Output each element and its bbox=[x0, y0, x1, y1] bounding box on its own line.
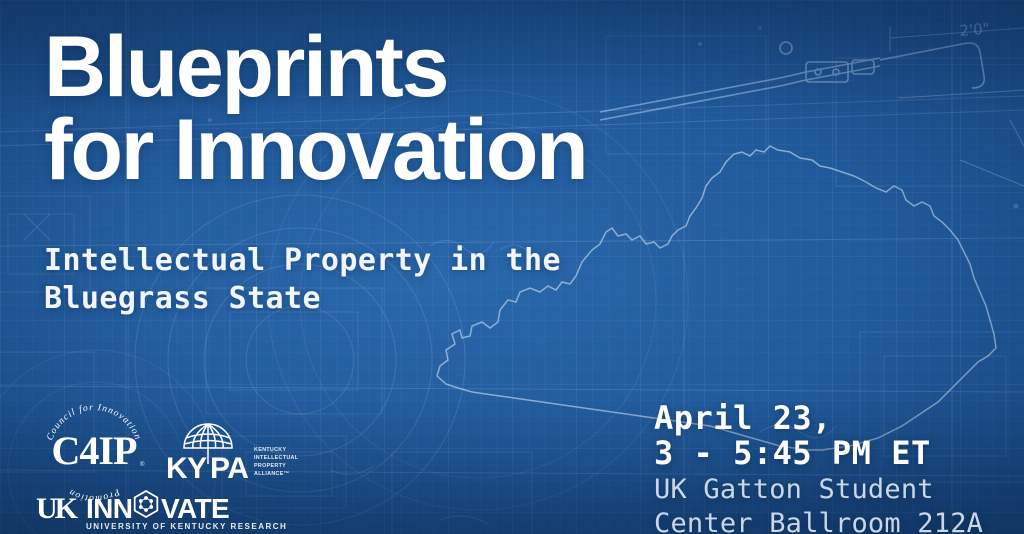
subtitle-line-2: Bluegrass State bbox=[44, 280, 724, 318]
event-details: April 23, 3 - 5:45 PM ET UK Gatton Stude… bbox=[654, 401, 1010, 534]
kyipa-wordmark-right: PA bbox=[210, 452, 248, 485]
page-subtitle: Intellectual Property in the Bluegrass S… bbox=[44, 242, 724, 319]
hexagon-molecule-icon bbox=[135, 491, 158, 517]
svg-text:UK: UK bbox=[36, 492, 79, 525]
uk-innovate-logo-svg: UK INN bbox=[36, 488, 276, 532]
logo-uk-innovate[interactable]: UK INN bbox=[36, 488, 276, 532]
kyipa-logo-svg: KY PA KENTUCKY INTELLECTUAL PROPERTY ALL… bbox=[164, 416, 288, 486]
title-line-2: for Innovation bbox=[44, 109, 904, 192]
page-title: Blueprints for Innovation bbox=[44, 26, 904, 193]
kyipa-wordmark-left: KY bbox=[166, 452, 207, 485]
title-line-1: Blueprints bbox=[44, 19, 447, 115]
event-time: 3 - 5:45 PM ET bbox=[654, 436, 1010, 472]
logo-kyipa[interactable]: KY PA KENTUCKY INTELLECTUAL PROPERTY ALL… bbox=[164, 416, 288, 486]
event-poster: 2'0" Blueprints for Innovat bbox=[0, 0, 1024, 534]
kyipa-tagline-line-4: ALLIANCE™ bbox=[254, 471, 289, 477]
c4ip-logo-svg: Council for Innovation Promotion C4IP ® bbox=[36, 404, 152, 486]
sponsor-logos: Council for Innovation Promotion C4IP ® bbox=[36, 402, 336, 532]
uk-wildcat-icon: UK bbox=[36, 492, 79, 525]
kyipa-tagline-line-2: INTELLECTUAL bbox=[254, 455, 299, 461]
logo-c4ip[interactable]: Council for Innovation Promotion C4IP ® bbox=[36, 404, 152, 486]
innovate-word-part-2: VATE bbox=[161, 493, 229, 524]
kyipa-tagline-line-3: PROPERTY bbox=[254, 463, 286, 469]
c4ip-wordmark: C4IP bbox=[52, 428, 137, 473]
event-venue-line-2: Center Ballroom 212A bbox=[654, 508, 1010, 534]
c4ip-trademark: ® bbox=[140, 461, 145, 468]
uk-innovate-tagline: UNIVERSITY OF KENTUCKY RESEARCH bbox=[86, 522, 287, 531]
event-date: April 23, bbox=[654, 401, 1010, 437]
subtitle-line-1: Intellectual Property in the bbox=[44, 242, 724, 280]
kyipa-tagline-line-1: KENTUCKY bbox=[254, 447, 286, 453]
innovate-word-part-1: INN bbox=[86, 493, 132, 524]
event-venue-line-1: UK Gatton Student bbox=[654, 474, 1010, 506]
